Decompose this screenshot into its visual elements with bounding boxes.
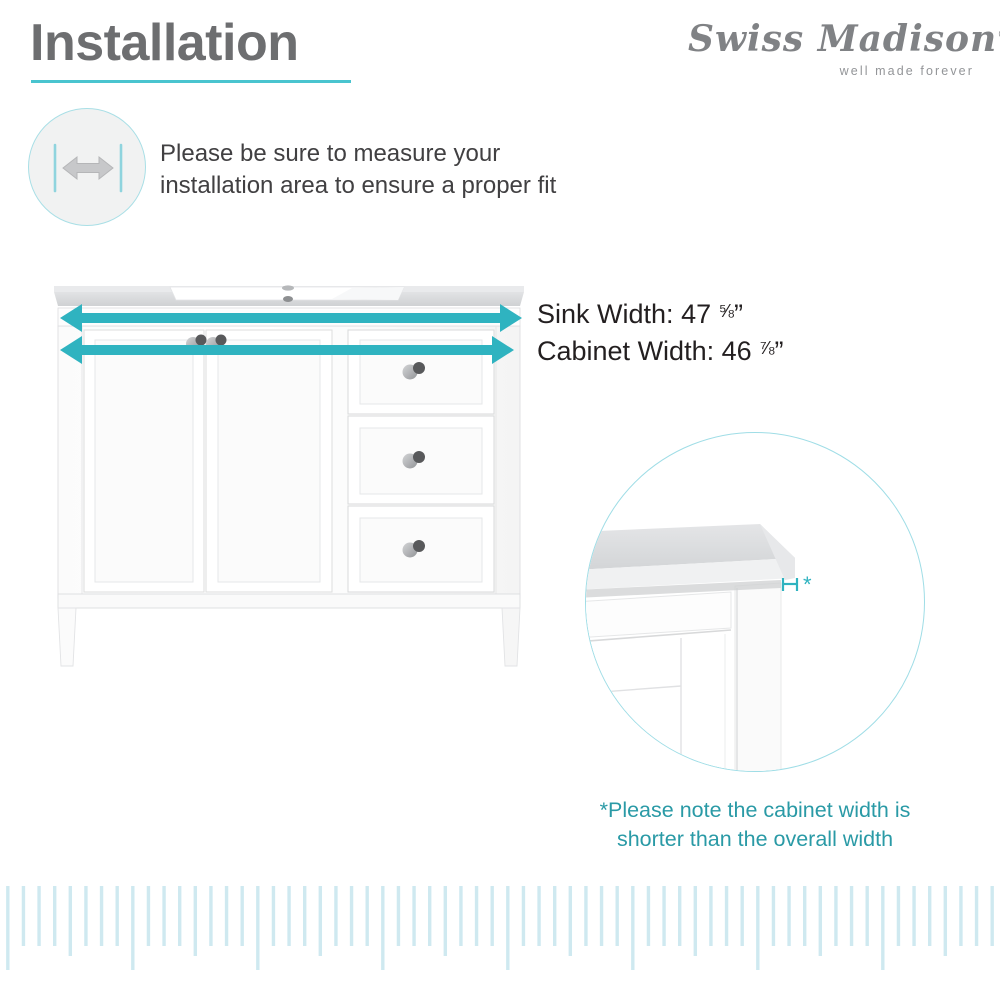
cabinet-width-label: Cabinet Width: 46 ⅞” (537, 333, 977, 370)
vanity-door-right (206, 330, 332, 592)
sink-width-fraction: ⅝ (719, 300, 734, 321)
footnote-line1: *Please note the cabinet width is (545, 796, 965, 825)
vanity-countertop (54, 285, 524, 306)
brand-tagline: well made forever (840, 64, 974, 78)
brand-name-text: Swiss Madison (688, 18, 997, 60)
vanity-illustration (52, 278, 522, 668)
measure-instruction-text: Please be sure to measure your installat… (160, 138, 600, 201)
vanity-door-left (84, 330, 204, 592)
cabinet-width-fraction: ⅞ (759, 336, 774, 357)
cabinet-width-unit: ” (774, 336, 783, 366)
vanity-drawer-1 (348, 330, 494, 414)
sink-width-text: Sink Width: (537, 299, 674, 329)
page-title: Installation (30, 16, 298, 71)
measure-instruction-line2: installation area to ensure a proper fit (160, 170, 600, 202)
installation-page: Installation Swiss Madison® well made fo… (0, 0, 1000, 1000)
dimension-labels: Sink Width: 47 ⅝” Cabinet Width: 46 ⅞” (537, 296, 977, 369)
detail-cabinet-corner (585, 524, 795, 772)
measure-instruction-line1: Please be sure to measure your (160, 138, 600, 170)
cabinet-width-value: 46 (722, 336, 752, 366)
sink-width-unit: ” (734, 299, 743, 329)
brand-name: Swiss Madison® (688, 18, 978, 60)
cabinet-width-text: Cabinet Width: (537, 336, 714, 366)
svg-text:*: * (803, 572, 812, 597)
title-underline (31, 80, 351, 83)
ruler-decoration (0, 884, 1000, 984)
footnote-line2: shorter than the overall width (545, 825, 965, 854)
vanity-base-and-legs (58, 594, 520, 666)
double-arrow-measure-icon (28, 108, 146, 226)
sink-width-label: Sink Width: 47 ⅝” (537, 296, 977, 333)
cabinet-width-footnote: *Please note the cabinet width is shorte… (545, 796, 965, 854)
vanity-drawer-3 (348, 506, 494, 592)
brand-logo: Swiss Madison® well made forever (688, 18, 978, 88)
corner-detail-inset: * (585, 432, 925, 772)
sink-width-value: 47 (681, 299, 711, 329)
vanity-drawer-2 (348, 416, 494, 504)
